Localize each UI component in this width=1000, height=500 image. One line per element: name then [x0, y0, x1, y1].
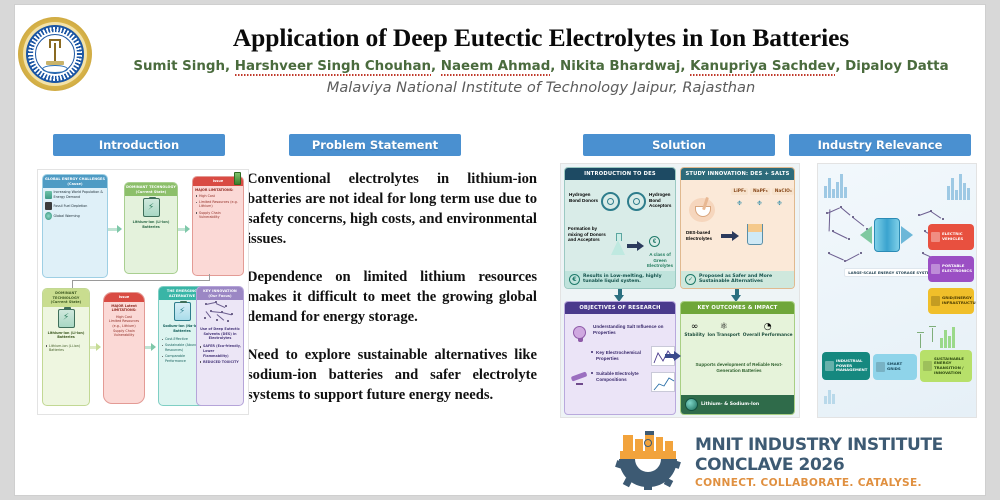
label-des-electrolytes: DES-based Electrolytes	[686, 230, 718, 241]
flask-icon	[611, 240, 625, 255]
gear-icon	[627, 192, 646, 211]
flow-wing-right-icon	[901, 226, 913, 244]
box-subheader: (Cause)	[67, 182, 82, 186]
factory-icon	[825, 361, 834, 371]
limitation-item: Limited Resources (e.g. Lithium)	[195, 200, 241, 209]
industry-chip-grid-infrastructure: GRID/ENERGY INFRASTRUCTURE	[928, 288, 974, 314]
green-city-icon	[923, 361, 932, 371]
box-caption: Lithium-Ion (Li-ion) Batteries	[125, 219, 177, 231]
box-caption: Use of Deep Eutectic Solvents (DES) in E…	[197, 326, 243, 342]
author-5: Kanupriya Sachdev	[690, 59, 835, 74]
box-header: KEY INNOVATION	[203, 289, 237, 293]
battery-icon: ⚡	[174, 302, 191, 321]
dominant-item: Lithium-ion (Li-ion) Batteries	[45, 344, 87, 353]
challenge-item: Increasing World Population & Energy Dem…	[45, 190, 105, 199]
telescope-icon	[571, 372, 589, 382]
crystal-icon: ❉	[737, 200, 742, 207]
intro-box-key-innovation: KEY INNOVATION (Our Focus) Use of Deep E…	[196, 286, 244, 406]
box-header: DOMINANT TECHNOLOGY	[53, 291, 80, 300]
intro-box-issue-2: Issue MAJOR Latent LIMITATIONS: High Cos…	[103, 292, 145, 404]
intro-box-issue: Issue MAJOR LIMITATIONS: High Cost Limit…	[192, 176, 244, 276]
objectives-list: Key Electrochemical Properties Suitable …	[591, 350, 651, 382]
label-green-class: A class of Green Electrolytes	[645, 252, 675, 269]
panel-banner: € Results in Low-melting, highly tunable…	[565, 271, 675, 288]
section-header-solution: Solution	[583, 134, 775, 156]
flow-arrow-icon	[117, 225, 122, 233]
solution-panel-objectives: OBJECTIVES OF RESEARCH Understanding Sal…	[564, 301, 676, 415]
skyline-decoration-icon	[947, 170, 970, 200]
limitations-title: MAJOR Latent LIMITATIONS:	[106, 304, 142, 313]
salt-chip: NaPF₆	[750, 188, 770, 195]
box-header: GLOBAL ENERGY CHALLENGES	[45, 177, 105, 181]
objective-item: Key Electrochemical Properties	[591, 350, 651, 361]
mnit-seal-icon	[18, 17, 92, 91]
phone-icon	[931, 264, 940, 274]
global-warming-icon	[45, 212, 52, 220]
box-caption: Lithium-Ion (Li-ion) Batteries	[43, 330, 89, 342]
salt-chip: NaClO₄	[772, 188, 794, 195]
industry-relevance-figure: LARGE-SCALE ENERGY STORAGE SYSTEMS ELECT…	[817, 163, 977, 418]
panel-header: KEY OUTCOMES & IMPACT	[681, 302, 794, 314]
flow-arrow-icon	[96, 343, 101, 351]
arrow-icon	[637, 241, 644, 251]
ev-car-icon	[931, 232, 940, 242]
affiliation: Malaviya National Institute of Technolog…	[101, 79, 981, 96]
problem-paragraph-3: Need to explore sustainable alternatives…	[247, 345, 537, 405]
footer-text-block: MNIT INDUSTRY INSTITUTE CONCLAVE 2026 CO…	[695, 435, 985, 489]
poster-canvas: Application of Deep Eutectic Electrolyte…	[14, 4, 986, 496]
problem-statement-body: Conventional electrolytes in lithium-ion…	[247, 169, 537, 405]
panel-header: STUDY INNOVATION: DES + SALTS	[681, 168, 794, 180]
challenge-item: Global Warming	[45, 212, 105, 220]
section-header-problem-statement: Problem Statement	[289, 134, 461, 156]
solution-panel-key-outcomes: KEY OUTCOMES & IMPACT ∞ Stability ⚛ Ion …	[680, 301, 795, 415]
box-header: Issue	[213, 179, 224, 183]
kpi-ion-transport: ⚛ Ion Transport	[708, 322, 740, 338]
population-icon	[45, 191, 52, 199]
objective-item: Suitable Electrolyte Compositions	[591, 371, 651, 382]
skyline-decoration-icon	[824, 386, 835, 404]
gauge-icon: ◔	[743, 322, 793, 332]
panel-header: OBJECTIVES OF RESEARCH	[565, 302, 675, 314]
box-header: Issue	[119, 295, 130, 299]
atom-icon: ⚛	[708, 322, 740, 332]
limitation-item: High Cost	[195, 194, 241, 199]
mortar-pestle-icon	[689, 198, 715, 222]
box-subheader: (Our Focus)	[208, 294, 231, 298]
crystal-icon: ❉	[777, 200, 782, 207]
author-4: Nikita Bhardwaj	[560, 59, 680, 74]
arrow-icon	[674, 351, 681, 361]
small-battery-icon	[234, 172, 241, 185]
flow-wing-left-icon	[860, 226, 872, 244]
grid-icon	[931, 296, 940, 306]
challenge-item: Fossil Fuel Depletion	[45, 202, 105, 210]
skyline-decoration-icon	[940, 324, 955, 348]
industry-chip-portable-electronics: PORTABLE ELECTRONICS	[928, 256, 974, 282]
author-sep: ,	[225, 59, 235, 74]
intro-box-dominant-technology: DOMINANT TECHNOLOGY (Current State) ⚡ Li…	[124, 182, 178, 274]
limitation-item: Supply Chain Vulnerability	[195, 211, 241, 220]
salt-chip: LiPF₆	[731, 188, 748, 195]
panel-banner: Lithium- & Sodium-Ion	[681, 395, 794, 414]
footer-logo-block: MNIT INDUSTRY INSTITUTE CONCLAVE 2026 CO…	[615, 429, 985, 493]
intro-box-dominant-technology-2: DOMINANT TECHNOLOGY (Current State) ⚡ Li…	[42, 288, 90, 406]
globe-icon	[685, 398, 698, 411]
innovation-item: SAFER (Eco-friendly, Lower Flammability)	[199, 344, 241, 358]
problem-paragraph-2: Dependence on limited lithium resources …	[247, 267, 537, 327]
salt-chip-group: LiPF₆ NaPF₆ NaClO₄	[731, 188, 794, 195]
box-header: DOMINANT TECHNOLOGY	[126, 185, 176, 189]
battery-icon: ⚡	[143, 198, 160, 217]
check-badge-icon: ✓	[685, 274, 696, 285]
author-1: Sumit Singh	[133, 59, 225, 74]
conclave-gear-factory-icon	[615, 431, 689, 489]
minigraph-2	[651, 372, 675, 392]
energy-storage-cylinder-icon	[874, 218, 900, 252]
introduction-figure: GLOBAL ENERGY CHALLENGES (Cause) Increas…	[37, 169, 249, 415]
label-hbd: Hydrogen Bond Donors	[569, 192, 601, 203]
lightbulb-icon	[573, 326, 586, 339]
section-header-introduction: Introduction	[53, 134, 225, 156]
crystal-icon: ❉	[757, 200, 762, 207]
objectives-lead: Understanding Salt Influence on Properti…	[593, 324, 673, 335]
arrow-icon	[732, 231, 739, 241]
solution-panel-study-innovation: STUDY INNOVATION: DES + SALTS LiPF₆ NaPF…	[680, 167, 795, 289]
kpi-overall-performance: ◔ Overall Performance	[743, 322, 793, 338]
beaker-icon	[747, 224, 763, 245]
conclave-tagline: CONNECT. COLLABORATE. CATALYSE.	[695, 477, 985, 489]
flow-arrow-icon	[185, 225, 190, 233]
innovation-item: REDUCED TOXICITY	[199, 360, 241, 365]
kpi-stability: ∞ Stability	[684, 322, 704, 338]
panel-banner: ✓ Proposed as Safer and More Sustainable…	[681, 271, 794, 288]
gear-icon	[601, 192, 620, 211]
outcomes-note: Supports development of Reliable Next-Ge…	[687, 362, 791, 373]
leaf-icon: €	[569, 274, 580, 285]
industry-chip-industrial-power: INDUSTRIAL POWER MANAGEMENT	[822, 352, 870, 380]
battery-icon: ⚡	[58, 309, 75, 328]
intro-box-global-energy-challenges: GLOBAL ENERGY CHALLENGES (Cause) Increas…	[42, 174, 108, 278]
box-subheader: (Current State)	[136, 190, 167, 194]
industry-chip-sustainable-transition: SUSTAINABLE ENERGY TRANSITION / INNOVATI…	[920, 350, 972, 382]
industry-chip-electric-vehicles: ELECTRIC VEHICLES	[928, 224, 974, 250]
problem-paragraph-1: Conventional electrolytes in lithium-ion…	[247, 169, 537, 249]
limitations-title: MAJOR LIMITATIONS:	[195, 188, 241, 193]
label-hba: Hydrogen Bond Acceptors	[649, 192, 676, 209]
author-2: Harshveer Singh Chouhan	[235, 59, 431, 74]
poster-header: Application of Deep Eutectic Electrolyte…	[15, 5, 986, 123]
author-list: Sumit Singh, Harshveer Singh Chouhan, Na…	[101, 57, 981, 76]
page-title: Application of Deep Eutectic Electrolyte…	[101, 21, 981, 55]
network-icon	[876, 362, 885, 372]
panel-header: INTRODUCTION TO DES	[565, 168, 675, 180]
section-header-industry-relevance: Industry Relevance	[789, 134, 971, 156]
title-block: Application of Deep Eutectic Electrolyte…	[101, 21, 981, 96]
solution-figure: INTRODUCTION TO DES Hydrogen Bond Donors…	[560, 163, 800, 418]
limitation-item: Limited Resources (e.g., Lithium)	[106, 319, 142, 328]
wind-turbine-icon	[918, 330, 926, 350]
wind-turbine-icon	[930, 324, 938, 348]
molecule-icon	[197, 300, 243, 326]
author-3: Naeem Ahmad	[441, 59, 551, 74]
skyline-decoration-icon	[824, 172, 847, 198]
box-subheader: (Current State)	[51, 300, 82, 304]
industry-chip-smart-grids: SMART GRIDS	[873, 354, 917, 380]
green-leaf-badge-icon: €	[649, 236, 660, 247]
limitation-item: Supply Chain Vulnerability	[106, 329, 142, 338]
conclave-title: MNIT INDUSTRY INSTITUTE CONCLAVE 2026	[695, 435, 985, 475]
solution-panel-intro-des: INTRODUCTION TO DES Hydrogen Bond Donors…	[564, 167, 676, 289]
infinity-icon: ∞	[684, 322, 704, 332]
label-formation: Formation by mixing of Donors and Accept…	[568, 226, 606, 243]
fossil-fuel-icon	[45, 202, 52, 210]
flow-arrow-icon	[151, 343, 156, 351]
author-6: Dipaloy Datta	[845, 59, 949, 74]
center-caption: LARGE-SCALE ENERGY STORAGE SYSTEMS	[844, 268, 940, 277]
box-header: THE EMERGING ALTERNATIVE	[167, 289, 197, 298]
